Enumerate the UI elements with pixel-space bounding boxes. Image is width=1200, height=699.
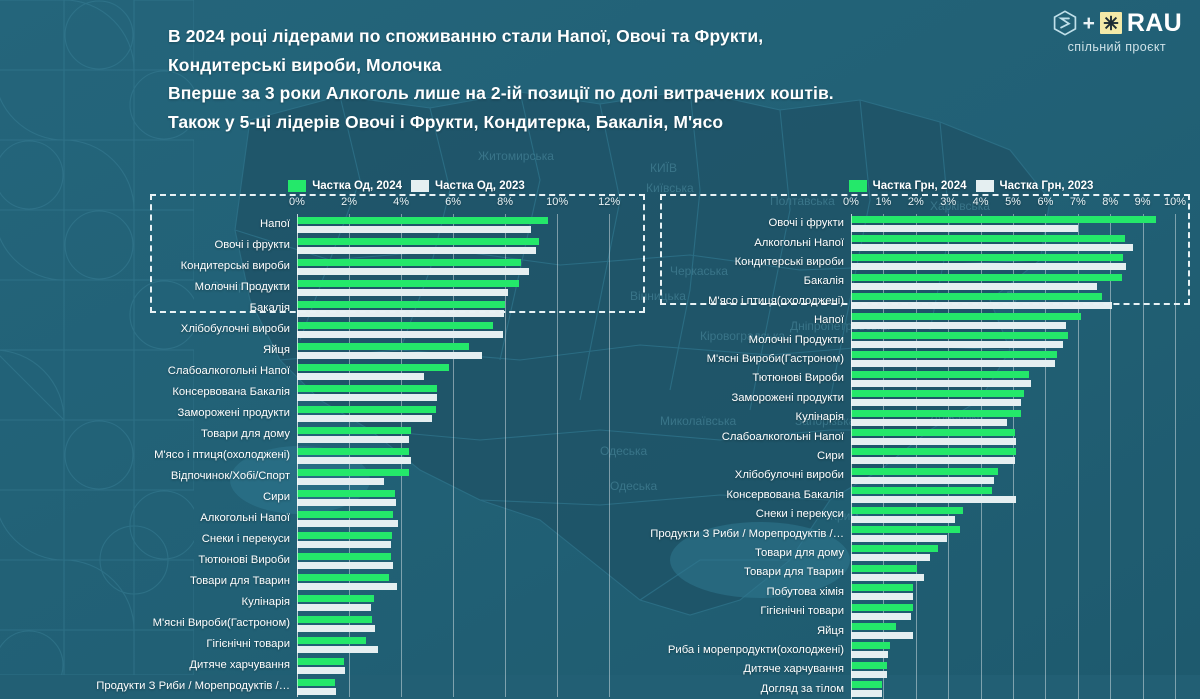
bar-pair — [851, 486, 1188, 505]
bar-row: Заморожені продукти — [297, 403, 630, 424]
category-label: Товари для Тварин — [190, 576, 297, 587]
category-label: Дитяче харчування — [743, 664, 851, 675]
bar-row: Дитяче харчування — [851, 660, 1188, 679]
bar-row: Риба і морепродукти(охолоджені) — [851, 641, 1188, 660]
bar-2024 — [851, 623, 896, 630]
bar-row: Сири — [297, 487, 630, 508]
bar-2024 — [851, 410, 1021, 417]
bar-2023 — [851, 457, 1015, 464]
bar-2023 — [297, 247, 536, 254]
bar-row: М'ясо і птиця(охолоджені) — [851, 292, 1188, 311]
bar-row: Кондитерські вироби — [297, 256, 630, 277]
bar-pair — [851, 427, 1188, 446]
x-tick-label: 8% — [1102, 196, 1118, 208]
bar-row: Товари для Тварин — [851, 563, 1188, 582]
bar-2023 — [297, 520, 398, 527]
bar-2024 — [851, 565, 917, 572]
axis-baseline — [297, 214, 298, 697]
bar-pair — [297, 361, 630, 382]
bar-2023 — [297, 436, 409, 443]
category-label: Слабоалкогольні Напої — [722, 432, 851, 443]
bar-row: Товари для дому — [297, 424, 630, 445]
bar-pair — [297, 277, 630, 298]
bar-2024 — [851, 235, 1125, 242]
x-tick-label: 7% — [1070, 196, 1086, 208]
category-label: Молочні Продукти — [195, 282, 297, 293]
bar-2023 — [297, 688, 336, 695]
bar-pair — [851, 466, 1188, 485]
bar-pair — [851, 602, 1188, 621]
bar-2023 — [297, 289, 508, 296]
bar-row: Заморожені продукти — [851, 389, 1188, 408]
category-label: М'ясо і птиця(охолоджені) — [708, 296, 851, 307]
bar-row: Гігієнічні товари — [297, 634, 630, 655]
bar-2024 — [851, 216, 1156, 223]
legend-swatch-2024 — [849, 180, 867, 192]
logo-plus-sign: + — [1083, 13, 1095, 34]
bar-pair — [851, 311, 1188, 330]
bar-pair — [851, 389, 1188, 408]
x-tick-label: 0% — [843, 196, 859, 208]
legend-swatch-2024 — [288, 180, 306, 192]
bar-pair — [297, 403, 630, 424]
x-tick-label: 4% — [973, 196, 989, 208]
bar-pair — [297, 676, 630, 697]
category-label: Снеки і перекуси — [756, 509, 851, 520]
bar-pair — [297, 340, 630, 361]
category-label: Заморожені продукти — [177, 408, 297, 419]
legend-label-2023: Частка Од, 2023 — [435, 180, 525, 192]
bar-pair — [297, 487, 630, 508]
bar-pair — [297, 319, 630, 340]
category-label: Риба і морепродукти(охолоджені) — [668, 645, 851, 656]
x-tick-label: 6% — [445, 196, 461, 208]
x-tick-label: 10% — [1164, 196, 1186, 208]
category-label: Кондитерські вироби — [735, 257, 851, 268]
bar-pair — [297, 298, 630, 319]
bar-2024 — [297, 469, 409, 476]
legend-item-2024: Частка Грн, 2024 — [849, 180, 967, 192]
legend-label-2023: Частка Грн, 2023 — [1000, 180, 1094, 192]
bar-2023 — [297, 268, 529, 275]
category-label: М'ясні Вироби(Гастроном) — [707, 354, 851, 365]
bar-2024 — [297, 532, 392, 539]
bar-row: Бакалія — [851, 272, 1188, 291]
bar-2023 — [297, 310, 504, 317]
category-label: Догляд за тілом — [761, 684, 851, 695]
bar-row: Напої — [297, 214, 630, 235]
bar-2023 — [297, 478, 384, 485]
bar-2024 — [297, 406, 436, 413]
bar-row: Молочні Продукти — [297, 277, 630, 298]
headline-line-4: Також у 5-ці лідерів Овочі і Фрукти, Кон… — [168, 108, 988, 137]
category-label: Кулінарія — [241, 597, 297, 608]
bar-2024 — [297, 553, 391, 560]
bar-row: М'ясні Вироби(Гастроном) — [297, 613, 630, 634]
bar-2023 — [851, 496, 1016, 503]
bar-pair — [297, 655, 630, 676]
category-label: Бакалія — [804, 276, 851, 287]
category-label: Консервована Бакалія — [172, 387, 297, 398]
bar-2023 — [851, 360, 1055, 367]
bar-2024 — [851, 468, 998, 475]
category-label: Тютюнові Вироби — [198, 555, 297, 566]
bar-row: Тютюнові Вироби — [297, 550, 630, 571]
bar-row: Продукти З Риби / Морепродуктів /… — [297, 676, 630, 697]
bar-row: Слабоалкогольні Напої — [297, 361, 630, 382]
logo-row: + RAU — [1052, 10, 1182, 36]
bar-2023 — [851, 225, 1078, 232]
bar-2024 — [297, 595, 374, 602]
category-label: Консервована Бакалія — [726, 490, 851, 501]
bar-pair — [851, 583, 1188, 602]
bar-2024 — [851, 584, 913, 591]
bar-2023 — [851, 341, 1063, 348]
bar-2024 — [851, 662, 887, 669]
bar-2023 — [851, 671, 887, 678]
bar-2024 — [851, 351, 1057, 358]
bar-row: Яйця — [851, 621, 1188, 640]
x-tick-label: 3% — [940, 196, 956, 208]
bar-row: Хлібобулочні вироби — [297, 319, 630, 340]
bar-pair — [851, 524, 1188, 543]
category-label: Молочні Продукти — [749, 335, 851, 346]
bar-row: Гігієнічні товари — [851, 602, 1188, 621]
bar-pair — [851, 563, 1188, 582]
bar-2024 — [297, 427, 411, 434]
bar-2023 — [297, 226, 531, 233]
bar-pair — [297, 571, 630, 592]
bar-2024 — [297, 238, 539, 245]
bar-2023 — [851, 399, 1021, 406]
bar-2024 — [297, 679, 335, 686]
bar-2024 — [297, 637, 366, 644]
category-label: Алкогольні Напої — [200, 513, 297, 524]
bar-2024 — [851, 254, 1123, 261]
category-label: Яйця — [817, 626, 851, 637]
bar-2024 — [851, 681, 882, 688]
bar-row: Сири — [851, 447, 1188, 466]
bar-2023 — [851, 380, 1031, 387]
bar-2024 — [297, 574, 389, 581]
category-label: Хлібобулочні вироби — [735, 470, 851, 481]
bar-2023 — [297, 646, 378, 653]
legend-label-2024: Частка Грн, 2024 — [873, 180, 967, 192]
bar-2023 — [851, 690, 882, 697]
headline-line-3: Вперше за 3 роки Алкоголь лише на 2-ій п… — [168, 79, 988, 108]
legend-label-2024: Частка Од, 2024 — [312, 180, 402, 192]
bar-row: Напої — [851, 311, 1188, 330]
bar-2024 — [851, 526, 960, 533]
bar-2023 — [851, 593, 913, 600]
bar-row: Товари для Тварин — [297, 571, 630, 592]
chart-money-share: Частка Грн, 2024 Частка Грн, 2023 0%1%2%… — [640, 176, 1190, 666]
category-label: Дитяче харчування — [189, 660, 297, 671]
bar-pair — [851, 272, 1188, 291]
page-title: В 2024 році лідерами по споживанню стали… — [168, 22, 988, 136]
hexagon-s-logo-icon — [1052, 10, 1078, 36]
bar-row: Овочі і фрукти — [297, 235, 630, 256]
category-label: Кулінарія — [795, 412, 851, 423]
bar-pair — [297, 508, 630, 529]
category-label: Товари для дому — [201, 429, 297, 440]
bar-pair — [297, 424, 630, 445]
x-axis-units: 0%2%4%6%8%10%12% — [297, 196, 630, 214]
bar-pair — [297, 592, 630, 613]
category-label: Овочі і фрукти — [768, 218, 851, 229]
bar-2024 — [297, 658, 344, 665]
bar-pair — [851, 621, 1188, 640]
bar-rows-money: Овочі і фруктиАлкогольні НапоїКондитерсь… — [851, 214, 1188, 699]
category-label: Тютюнові Вироби — [752, 373, 851, 384]
bar-row: Алкогольні Напої — [297, 508, 630, 529]
bar-2023 — [297, 373, 424, 380]
bar-row: Кулінарія — [851, 408, 1188, 427]
bar-pair — [297, 382, 630, 403]
plot-area-units: 0%2%4%6%8%10%12%НапоїОвочі і фруктиКонди… — [150, 196, 655, 697]
bar-2023 — [851, 322, 1066, 329]
bar-rows-units: НапоїОвочі і фруктиКондитерські виробиМо… — [297, 214, 630, 697]
bar-row: Товари для дому — [851, 544, 1188, 563]
svg-text:КИЇВ: КИЇВ — [650, 161, 677, 175]
bar-pair — [851, 447, 1188, 466]
bar-row: Слабоалкогольні Напої — [851, 427, 1188, 446]
category-label: Товари для дому — [755, 548, 851, 559]
bar-row: Догляд за тілом — [851, 680, 1188, 699]
headline-line-2: Кондитерські вироби, Молочка — [168, 51, 988, 80]
category-label: Хлібобулочні вироби — [181, 324, 297, 335]
category-label: М'ясні Вироби(Гастроном) — [153, 618, 297, 629]
bar-pair — [297, 529, 630, 550]
bar-2024 — [851, 274, 1122, 281]
x-tick-label: 0% — [289, 196, 305, 208]
category-label: М'ясо і птиця(охолоджені) — [154, 450, 297, 461]
svg-text:Житомирська: Житомирська — [478, 149, 554, 163]
bar-2024 — [297, 280, 519, 287]
bar-row: Овочі і фрукти — [851, 214, 1188, 233]
bar-pair — [851, 641, 1188, 660]
category-label: Яйця — [263, 345, 297, 356]
bar-pair — [297, 256, 630, 277]
bar-pair — [851, 408, 1188, 427]
bar-pair — [851, 233, 1188, 252]
chart-units-share: Частка Од, 2024 Частка Од, 2023 0%2%4%6%… — [150, 176, 655, 654]
bar-pair — [297, 634, 630, 655]
category-label: Побутова хімія — [767, 587, 851, 598]
bar-2023 — [297, 562, 393, 569]
bar-2023 — [851, 419, 1007, 426]
bar-2023 — [851, 613, 911, 620]
bar-2024 — [851, 507, 963, 514]
bar-2023 — [851, 554, 930, 561]
bar-2024 — [297, 448, 409, 455]
bar-2023 — [297, 583, 397, 590]
bar-2023 — [851, 574, 924, 581]
legend-swatch-2023 — [976, 180, 994, 192]
logo-block: + RAU спільний проєкт — [1052, 10, 1182, 54]
x-tick-label: 4% — [393, 196, 409, 208]
bar-2024 — [851, 487, 992, 494]
bar-2023 — [851, 535, 947, 542]
legend-item-2023: Частка Од, 2023 — [411, 180, 525, 192]
category-label: Продукти З Риби / Морепродуктів /… — [96, 681, 297, 692]
legend-swatch-2023 — [411, 180, 429, 192]
bar-2024 — [851, 448, 1016, 455]
bar-pair — [851, 253, 1188, 272]
bar-row: Дитяче харчування — [297, 655, 630, 676]
legend-item-2024: Частка Од, 2024 — [288, 180, 402, 192]
bar-2024 — [297, 322, 493, 329]
bar-2023 — [297, 667, 345, 674]
category-label: Продукти З Риби / Морепродуктів /… — [650, 529, 851, 540]
x-tick-label: 10% — [546, 196, 568, 208]
bar-2024 — [297, 343, 469, 350]
axis-baseline — [851, 214, 852, 699]
bar-row: Молочні Продукти — [851, 330, 1188, 349]
bar-2024 — [851, 429, 1015, 436]
bar-2023 — [851, 632, 913, 639]
bar-row: Бакалія — [297, 298, 630, 319]
bar-row: Хлібобулочні вироби — [851, 466, 1188, 485]
bar-2023 — [297, 625, 375, 632]
bar-2023 — [297, 499, 396, 506]
bar-row: Яйця — [297, 340, 630, 361]
bar-2023 — [297, 541, 391, 548]
bar-2023 — [297, 457, 411, 464]
bar-pair — [851, 292, 1188, 311]
x-tick-label: 9% — [1135, 196, 1151, 208]
category-label: Напої — [814, 315, 851, 326]
bar-pair — [297, 466, 630, 487]
star-burst-icon — [1100, 12, 1122, 34]
bar-2024 — [297, 490, 395, 497]
bar-2024 — [297, 364, 449, 371]
bar-row: Побутова хімія — [851, 583, 1188, 602]
bar-pair — [851, 330, 1188, 349]
bar-2024 — [851, 604, 913, 611]
bar-2023 — [851, 244, 1133, 251]
plot-area-money: 0%1%2%3%4%5%6%7%8%9%10%Овочі і фруктиАлк… — [640, 196, 1190, 699]
x-tick-label: 2% — [908, 196, 924, 208]
bar-row: М'ясні Вироби(Гастроном) — [851, 350, 1188, 369]
bar-row: Снеки і перекуси — [851, 505, 1188, 524]
bar-row: М'ясо і птиця(охолоджені) — [297, 445, 630, 466]
legend-item-2023: Частка Грн, 2023 — [976, 180, 1094, 192]
bar-2023 — [851, 477, 994, 484]
bar-2024 — [851, 332, 1068, 339]
bar-pair — [851, 680, 1188, 699]
x-tick-label: 6% — [1037, 196, 1053, 208]
bar-2023 — [297, 394, 437, 401]
category-label: Алкогольні Напої — [754, 238, 851, 249]
logo-brand-text: RAU — [1127, 11, 1182, 36]
bar-row: Кулінарія — [297, 592, 630, 613]
bar-row: Консервована Бакалія — [851, 486, 1188, 505]
bar-2024 — [297, 301, 505, 308]
category-label: Напої — [260, 219, 297, 230]
bar-2023 — [851, 263, 1126, 270]
bar-2024 — [851, 293, 1102, 300]
x-tick-label: 1% — [875, 196, 891, 208]
bar-row: Снеки і перекуси — [297, 529, 630, 550]
bar-row: Продукти З Риби / Морепродуктів /… — [851, 524, 1188, 543]
bar-row: Консервована Бакалія — [297, 382, 630, 403]
headline-line-1: В 2024 році лідерами по споживанню стали… — [168, 22, 988, 51]
bar-pair — [851, 544, 1188, 563]
bar-2023 — [851, 651, 888, 658]
bar-pair — [297, 445, 630, 466]
bar-pair — [851, 350, 1188, 369]
bar-pair — [297, 235, 630, 256]
category-label: Овочі і фрукти — [214, 240, 297, 251]
bar-row: Відпочинок/Хобі/Спорт — [297, 466, 630, 487]
bar-2024 — [297, 616, 372, 623]
legend-units: Частка Од, 2024 Частка Од, 2023 — [150, 176, 655, 196]
x-tick-label: 5% — [1005, 196, 1021, 208]
bar-2024 — [851, 390, 1024, 397]
bar-2024 — [297, 511, 393, 518]
bar-pair — [297, 214, 630, 235]
bar-pair — [851, 214, 1188, 233]
bar-2024 — [851, 371, 1029, 378]
category-label: Кондитерські вироби — [181, 261, 297, 272]
x-tick-label: 12% — [598, 196, 620, 208]
bar-2023 — [297, 415, 432, 422]
bar-2024 — [297, 385, 437, 392]
bar-2024 — [851, 642, 890, 649]
category-label: Гігієнічні товари — [206, 639, 297, 650]
category-label: Слабоалкогольні Напої — [168, 366, 297, 377]
category-label: Сири — [817, 451, 851, 462]
category-label: Товари для Тварин — [744, 567, 851, 578]
bar-2024 — [851, 545, 938, 552]
bar-2024 — [297, 259, 521, 266]
legend-money: Частка Грн, 2024 Частка Грн, 2023 — [640, 176, 1190, 196]
bar-2023 — [297, 604, 371, 611]
bar-pair — [851, 505, 1188, 524]
bar-2023 — [851, 438, 1016, 445]
category-label: Відпочинок/Хобі/Спорт — [171, 471, 297, 482]
bar-2024 — [851, 313, 1081, 320]
category-label: Сири — [263, 492, 297, 503]
bar-row: Тютюнові Вироби — [851, 369, 1188, 388]
bar-row: Алкогольні Напої — [851, 233, 1188, 252]
bar-2023 — [297, 352, 482, 359]
logo-subtitle: спільний проєкт — [1052, 40, 1182, 54]
category-label: Снеки і перекуси — [202, 534, 297, 545]
bar-2023 — [851, 283, 1097, 290]
bar-2023 — [851, 302, 1112, 309]
x-tick-label: 2% — [341, 196, 357, 208]
bar-pair — [297, 613, 630, 634]
bar-pair — [851, 660, 1188, 679]
bar-row: Кондитерські вироби — [851, 253, 1188, 272]
bar-2023 — [851, 516, 955, 523]
x-tick-label: 8% — [497, 196, 513, 208]
bar-pair — [851, 369, 1188, 388]
category-label: Гігієнічні товари — [760, 606, 851, 617]
category-label: Бакалія — [250, 303, 297, 314]
bar-2024 — [297, 217, 548, 224]
x-axis-money: 0%1%2%3%4%5%6%7%8%9%10% — [851, 196, 1188, 214]
bar-2023 — [297, 331, 503, 338]
category-label: Заморожені продукти — [731, 393, 851, 404]
bar-pair — [297, 550, 630, 571]
